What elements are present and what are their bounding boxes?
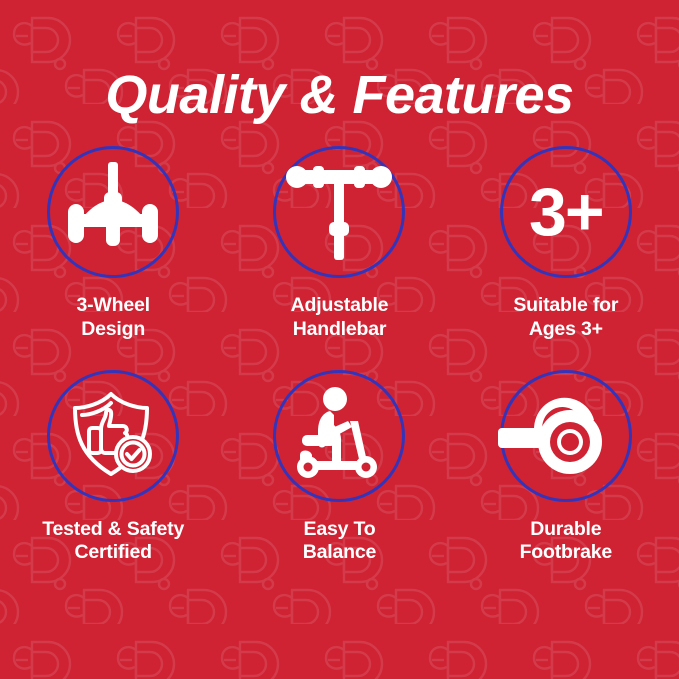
feature-caption: Tested & Safety Certified	[42, 518, 184, 566]
feature-caption-line-2: Ages 3+	[513, 318, 618, 342]
feature-caption-line-1: Easy To	[303, 518, 376, 542]
feature-item-3-wheel-design: 3-Wheel Design	[0, 146, 226, 342]
feature-caption: Suitable for Ages 3+	[513, 294, 618, 342]
feature-grid-row-1: 3-Wheel Design	[0, 146, 679, 342]
feature-caption-line-1: 3-Wheel	[76, 294, 149, 318]
feature-item-adjustable-handlebar: Adjustable Handlebar	[226, 146, 452, 342]
feature-item-tested-safety-certified: Tested & Safety Certified	[0, 370, 226, 566]
age-3-plus-icon: 3+	[529, 178, 603, 246]
feature-caption-line-2: Footbrake	[520, 541, 612, 565]
feature-grid-row-2: Tested & Safety Certified	[0, 366, 679, 566]
shield-thumbs-up-check-icon	[61, 384, 165, 488]
feature-item-suitable-for-ages-3-plus: 3+ Suitable for Ages 3+	[453, 146, 679, 342]
feature-caption: 3-Wheel Design	[76, 294, 149, 342]
person-riding-scooter-icon	[286, 383, 392, 489]
feature-caption: Easy To Balance	[303, 518, 376, 566]
feature-caption: Adjustable Handlebar	[291, 294, 389, 342]
feature-icon-badge	[500, 370, 632, 502]
feature-caption-line-1: Tested & Safety	[42, 518, 184, 542]
three-wheel-scooter-icon	[57, 156, 169, 268]
feature-icon-badge	[47, 146, 179, 278]
feature-item-durable-footbrake: Durable Footbrake	[453, 370, 679, 566]
adjustable-handlebar-icon	[283, 154, 395, 270]
page-title: Quality & Features	[105, 68, 573, 122]
feature-icon-badge: 3+	[500, 146, 632, 278]
feature-icon-badge	[273, 146, 405, 278]
feature-caption-line-1: Adjustable	[291, 294, 389, 318]
feature-caption-line-2: Handlebar	[291, 318, 389, 342]
feature-caption-line-2: Design	[76, 318, 149, 342]
feature-item-easy-to-balance: Easy To Balance	[226, 370, 452, 566]
feature-icon-badge	[273, 370, 405, 502]
feature-caption-line-2: Balance	[303, 541, 376, 565]
feature-caption: Durable Footbrake	[520, 518, 612, 566]
feature-caption-line-1: Durable	[520, 518, 612, 542]
feature-caption-line-2: Certified	[42, 541, 184, 565]
feature-caption-line-1: Suitable for	[513, 294, 618, 318]
feature-panel: Quality & Features 3-W	[0, 0, 679, 679]
rear-wheel-footbrake-icon	[506, 384, 626, 488]
feature-icon-badge	[47, 370, 179, 502]
